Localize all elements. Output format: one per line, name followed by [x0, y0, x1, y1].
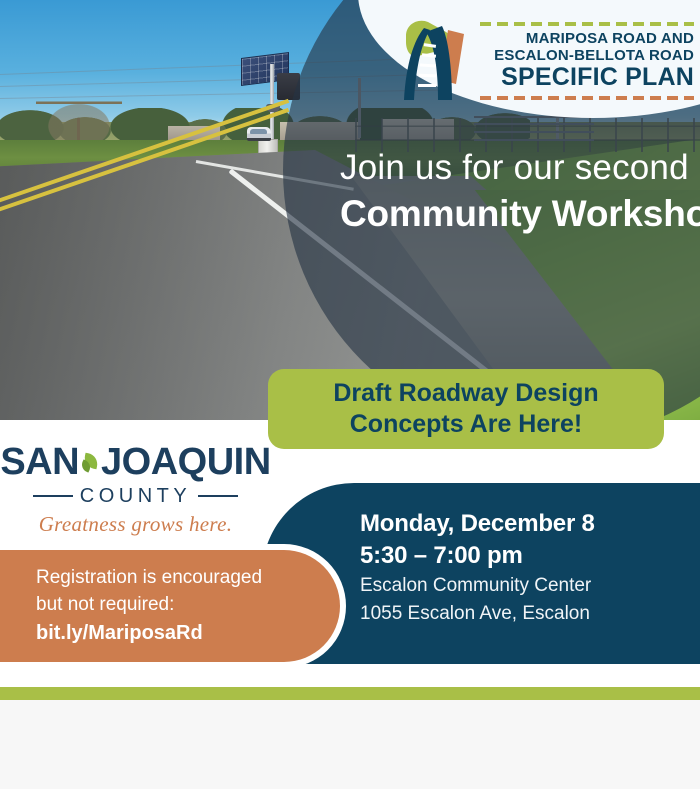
event-time: 5:30 – 7:00 pm	[360, 540, 690, 572]
plan-logo-line1: MARIPOSA ROAD AND	[478, 30, 694, 47]
page-background	[0, 700, 700, 789]
registration-url[interactable]: bit.ly/MariposaRd	[36, 619, 326, 647]
county-subtitle: COUNTY	[80, 485, 191, 507]
headline: Join us for our second Community Worksho…	[340, 146, 700, 237]
vehicle-suv	[247, 127, 271, 141]
draft-concepts-callout: Draft Roadway DesignConcepts Are Here!	[268, 369, 664, 449]
san-joaquin-county-logo: SAN JOAQUIN COUNTY Greatness grows here.	[33, 442, 238, 536]
registration-details: Registration is encouraged but not requi…	[36, 564, 326, 647]
callout-line1: Draft Roadway Design	[333, 379, 598, 407]
county-tagline: Greatness grows here.	[33, 512, 238, 536]
headline-line2: Community Workshop	[340, 191, 700, 237]
leaf-icon	[80, 451, 100, 473]
county-name-part1: SAN	[0, 442, 79, 482]
specific-plan-logo-text: MARIPOSA ROAD AND ESCALON-BELLOTA ROAD S…	[478, 17, 694, 104]
rule-right	[198, 495, 238, 497]
callout-line2: Concepts Are Here!	[350, 410, 582, 438]
plan-logo-line2: ESCALON-BELLOTA ROAD	[478, 47, 694, 64]
event-address: 1055 Escalon Ave, Escalon	[360, 600, 690, 628]
headline-line1: Join us for our second	[340, 146, 700, 189]
county-wordmark: SAN JOAQUIN	[33, 442, 238, 482]
event-venue: Escalon Community Center	[360, 572, 690, 600]
county-subtitle-row: COUNTY	[33, 485, 238, 507]
registration-line2: but not required:	[36, 591, 326, 618]
county-name-part2: JOAQUIN	[101, 442, 271, 482]
plan-logo-line3: SPECIFIC PLAN	[478, 64, 694, 91]
callout-text: Draft Roadway DesignConcepts Are Here!	[333, 378, 598, 440]
registration-line1: Registration is encouraged	[36, 564, 326, 591]
bottom-accent-bar	[0, 687, 700, 700]
event-details: Monday, December 8 5:30 – 7:00 pm Escalo…	[360, 508, 690, 628]
flyer-canvas: MARIPOSA ROAD AND ESCALON-BELLOTA ROAD S…	[0, 0, 700, 700]
roadway-mark-icon	[396, 14, 470, 106]
event-date: Monday, December 8	[360, 508, 690, 540]
rule-left	[33, 495, 73, 497]
dashed-rule-orange	[480, 96, 694, 100]
dashed-rule-green	[480, 22, 694, 26]
specific-plan-logo: MARIPOSA ROAD AND ESCALON-BELLOTA ROAD S…	[396, 8, 696, 112]
